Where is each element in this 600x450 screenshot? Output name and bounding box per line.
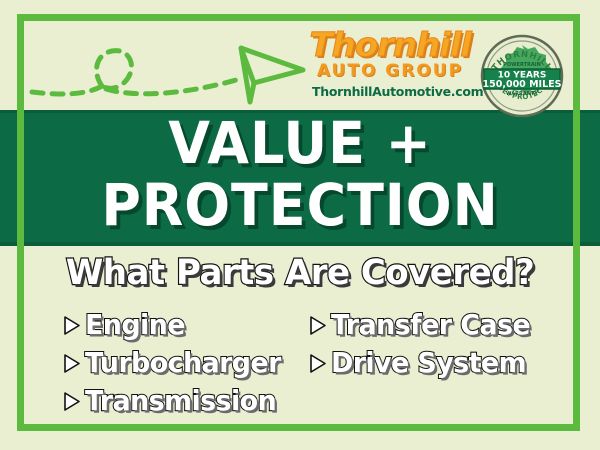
badge-miles-text: 150,000 MILES [483, 79, 562, 90]
main-headline: VALUE + PROTECTION [0, 112, 600, 236]
covered-parts-left-column: Engine Turbocharger Transmission [62, 306, 312, 420]
logo-subtitle: AUTO GROUP [312, 62, 468, 81]
list-item: Transmission [62, 382, 312, 420]
header-area: Thornhill AUTO GROUP ThornhillAutomotive… [0, 14, 600, 110]
part-label: Drive System [331, 348, 526, 378]
triangle-bullet-icon [62, 391, 81, 412]
headline-line-2: PROTECTION [21, 174, 579, 236]
headline-line-1: VALUE + [21, 112, 579, 174]
badge-warranty-text: WARRANTY [506, 91, 538, 97]
list-item: Transfer Case [308, 306, 558, 344]
band-bottom-edge [0, 242, 600, 246]
advertisement-banner: Thornhill AUTO GROUP ThornhillAutomotive… [0, 0, 600, 450]
triangle-bullet-icon [62, 315, 81, 336]
triangle-bullet-icon [308, 315, 327, 336]
flight-path-arrow-icon [26, 26, 311, 108]
thornhill-logo: Thornhill AUTO GROUP ThornhillAutomotive… [312, 26, 468, 110]
part-label: Engine [85, 310, 185, 340]
part-label: Transfer Case [331, 310, 530, 340]
list-item: Engine [62, 306, 312, 344]
subheading-question: What Parts Are Covered? [9, 252, 591, 294]
logo-website-url: ThornhillAutomotive.com [312, 84, 468, 99]
triangle-bullet-icon [62, 353, 81, 374]
part-label: Transmission [85, 386, 276, 416]
warranty-seal-badge: THORNHILL VALUE+PROTECTION POWERTRAIN 10… [480, 34, 564, 118]
triangle-bullet-icon [308, 353, 327, 374]
list-item: Turbocharger [62, 344, 312, 382]
covered-parts-right-column: Transfer Case Drive System [308, 306, 558, 382]
part-label: Turbocharger [85, 348, 281, 378]
badge-powertrain-text: POWERTRAIN [503, 62, 541, 68]
list-item: Drive System [308, 344, 558, 382]
logo-wordmark: Thornhill [309, 28, 471, 61]
covered-parts-list: Engine Turbocharger Transmission Tra [0, 306, 600, 421]
